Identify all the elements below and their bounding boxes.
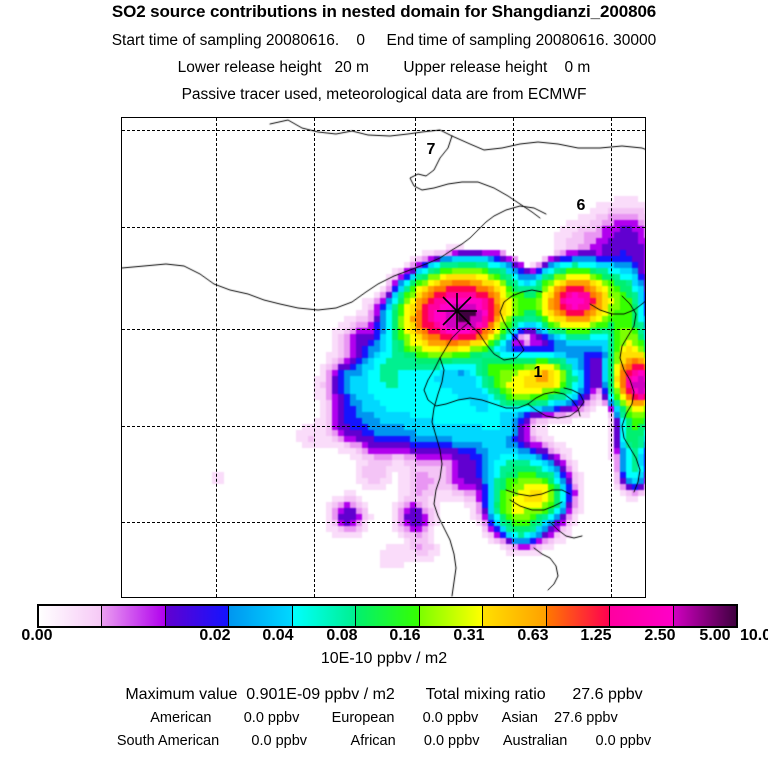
colorbar-tick-10: 10.00 (740, 627, 768, 645)
map-plot-area: 761 (121, 117, 646, 598)
map-region-label-6: 6 (577, 197, 586, 215)
colorbar-tick-8: 2.50 (644, 627, 675, 645)
stats-maximum-line: Maximum value 0.901E-09 ppbv / m2 Total … (0, 686, 768, 704)
page-title: SO2 source contributions in nested domai… (0, 2, 768, 22)
colorbar-tick-2: 0.04 (262, 627, 293, 645)
colorbar-tick-5: 0.31 (453, 627, 484, 645)
colorbar-unit-label: 10E-10 ppbv / m2 (0, 650, 768, 668)
sampling-time-line: Start time of sampling 20080616. 0 End t… (0, 32, 768, 50)
colorbar-segment-10 (674, 606, 736, 626)
release-height-line: Lower release height 20 m Upper release … (0, 59, 768, 77)
colorbar-segment-3 (229, 606, 292, 626)
colorbar-segment-6 (420, 606, 483, 626)
colorbar-segment-5 (356, 606, 419, 626)
plot-canvas: SO2 source contributions in nested domai… (0, 0, 768, 768)
map-region-label-7: 7 (427, 141, 436, 159)
colorbar-segment-2 (166, 606, 229, 626)
colorbar-tick-0: 0.00 (21, 627, 52, 645)
map-label-layer: 761 (122, 118, 645, 597)
colorbar-tick-7: 1.25 (580, 627, 611, 645)
colorbar-segment-7 (483, 606, 546, 626)
colorbar-tick-1: 0.02 (199, 627, 230, 645)
colorbar-segment-8 (547, 606, 610, 626)
stats-row-north: American 0.0 ppbv European 0.0 ppbv Asia… (0, 710, 768, 726)
colorbar-tick-9: 5.00 (699, 627, 730, 645)
colorbar-segment-0 (39, 606, 102, 626)
tracer-meteo-line: Passive tracer used, meteorological data… (0, 86, 768, 104)
colorbar-tick-3: 0.08 (326, 627, 357, 645)
colorbar-tick-labels: 0.000.020.040.080.160.310.631.252.505.00… (0, 627, 768, 647)
release-site-marker (435, 289, 479, 333)
colorbar-segment-1 (102, 606, 165, 626)
colorbar-segment-4 (293, 606, 356, 626)
stats-row-south: South American 0.0 ppbv African 0.0 ppbv… (0, 733, 768, 749)
colorbar-tick-6: 0.63 (517, 627, 548, 645)
colorbar-tick-4: 0.16 (389, 627, 420, 645)
map-region-label-1: 1 (534, 364, 543, 382)
colorbar-segment-9 (610, 606, 673, 626)
colorbar (37, 604, 738, 628)
